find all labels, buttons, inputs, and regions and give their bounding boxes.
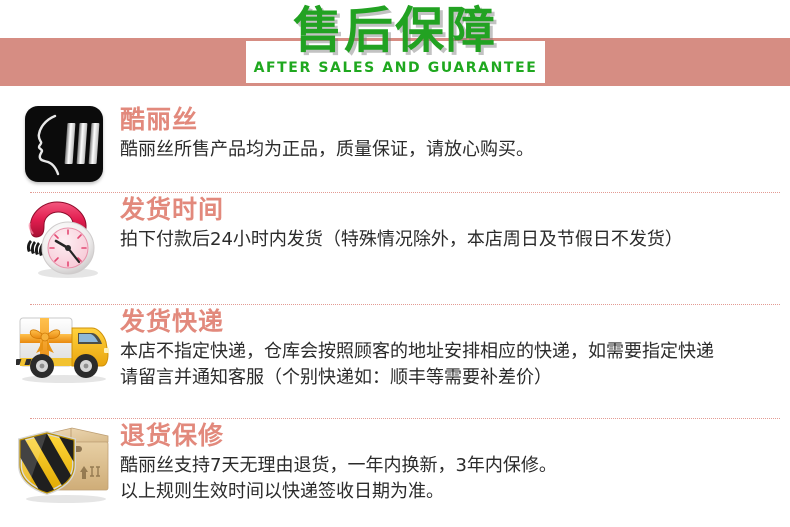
section-icon-container — [14, 192, 114, 280]
section-title: 发货快递 — [120, 306, 790, 337]
section-line: 拍下付款后24小时内发货（特殊情况除外，本店周日及节假日不发货） — [120, 227, 790, 253]
section-line: 本店不指定快递，仓库会按照顾客的地址安排相应的快递，如需要指定快递 — [120, 339, 790, 365]
lash-bar — [77, 123, 88, 164]
section-title: 退货保修 — [120, 420, 790, 451]
section-separator — [30, 192, 780, 193]
delivery-truck-glyph — [16, 308, 112, 384]
box-shield-glyph — [16, 422, 112, 504]
box-shield-icon — [16, 422, 112, 504]
lash-bar — [89, 123, 100, 164]
brand-lashes-icon — [25, 106, 103, 182]
section-icon-container — [14, 304, 114, 384]
page-header: 售后保障 AFTER SALES AND GUARANTEE — [0, 0, 790, 96]
section-text: 发货时间 拍下付款后24小时内发货（特殊情况除外，本店周日及节假日不发货） — [114, 192, 790, 253]
section-title: 发货时间 — [120, 194, 790, 225]
lash-bar — [65, 123, 76, 164]
section-icon-container — [14, 418, 114, 504]
section-text: 酷丽丝 酷丽丝所售产品均为正品，质量保证，请放心购买。 — [114, 102, 790, 163]
section-line: 请留言并通知客服（个别快递如：顺丰等需要补差价） — [120, 365, 790, 391]
section-line: 酷丽丝所售产品均为正品，质量保证，请放心购买。 — [120, 137, 790, 163]
page-title-english: AFTER SALES AND GUARANTEE — [243, 60, 548, 76]
section-line: 以上规则生效时间以快递签收日期为准。 — [120, 479, 790, 505]
section-text: 发货快递 本店不指定快递，仓库会按照顾客的地址安排相应的快递，如需要指定快递 请… — [114, 304, 790, 391]
section-shipping-courier: 发货快递 本店不指定快递，仓库会按照顾客的地址安排相应的快递，如需要指定快递 请… — [0, 298, 790, 410]
gift-truck-icon — [16, 308, 112, 384]
section-return-warranty: 退货保修 酷丽丝支持7天无理由退货，一年内换新，3年内保修。 以上规则生效时间以… — [0, 410, 790, 512]
page-title-chinese: 售后保障 — [0, 5, 790, 57]
section-brand: 酷丽丝 酷丽丝所售产品均为正品，质量保证，请放心购买。 — [0, 96, 790, 188]
phone-clock-glyph — [21, 196, 107, 280]
section-separator — [30, 304, 780, 305]
section-shipping-time: 发货时间 拍下付款后24小时内发货（特殊情况除外，本店周日及节假日不发货） — [0, 188, 790, 298]
face-profile-icon — [31, 114, 65, 176]
section-title: 酷丽丝 — [120, 104, 790, 135]
guarantee-sections: 酷丽丝 酷丽丝所售产品均为正品，质量保证，请放心购买。 — [0, 96, 790, 512]
phone-clock-icon — [21, 196, 107, 280]
section-separator — [30, 418, 780, 419]
section-text: 退货保修 酷丽丝支持7天无理由退货，一年内换新，3年内保修。 以上规则生效时间以… — [114, 418, 790, 505]
section-icon-container — [14, 102, 114, 182]
section-line: 酷丽丝支持7天无理由退货，一年内换新，3年内保修。 — [120, 453, 790, 479]
